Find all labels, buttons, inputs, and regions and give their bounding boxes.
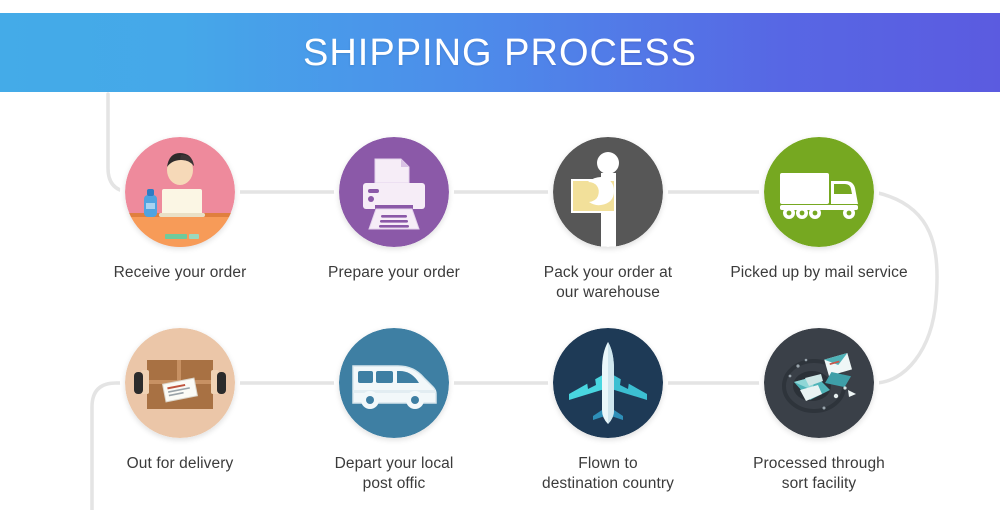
person-at-desk-with-laptop-icon [125,137,235,247]
step-2-label: Prepare your order [294,263,494,283]
printer-icon [339,137,449,247]
step-6-label: Depart your local post offic [294,454,494,494]
step-pack-your-order[interactable]: Pack your order at our warehouse [508,137,708,303]
step-7-circle-wrap[interactable] [553,328,663,438]
step-prepare-your-order[interactable]: Prepare your order [294,137,494,283]
page-title: SHIPPING PROCESS [303,34,697,72]
airplane-top-view-icon [553,328,663,438]
step-processed-through-sort-facility[interactable]: Processed through sort facility [719,328,919,494]
worker-carrying-box-icon [553,137,663,247]
step-6-circle-wrap[interactable] [339,328,449,438]
step-8-circle-wrap[interactable] [764,328,874,438]
step-2-circle-wrap[interactable] [339,137,449,247]
step-3-label: Pack your order at our warehouse [508,263,708,303]
step-flown-to-destination-country[interactable]: Flown to destination country [508,328,708,494]
step-out-for-delivery[interactable]: Out for delivery [80,328,280,474]
step-8-label: Processed through sort facility [719,454,919,494]
step-5-circle-wrap[interactable] [125,328,235,438]
delivery-van-icon [339,328,449,438]
step-5-label: Out for delivery [80,454,280,474]
mail-sorting-facility-icon [764,328,874,438]
step-4-label: Picked up by mail service [719,263,919,283]
step-7-label: Flown to destination country [508,454,708,494]
step-1-circle-wrap[interactable] [125,137,235,247]
header-banner: SHIPPING PROCESS [0,13,1000,92]
step-receive-your-order[interactable]: Receive your order [80,137,280,283]
step-1-label: Receive your order [80,263,280,283]
step-depart-local-post-office[interactable]: Depart your local post offic [294,328,494,494]
step-3-circle-wrap[interactable] [553,137,663,247]
step-4-circle-wrap[interactable] [764,137,874,247]
delivery-truck-icon [764,137,874,247]
shipping-process-infographic: SHIPPING PROCESS [0,0,1000,510]
step-picked-up-by-mail-service[interactable]: Picked up by mail service [719,137,919,283]
cardboard-parcel-box-icon [125,328,235,438]
